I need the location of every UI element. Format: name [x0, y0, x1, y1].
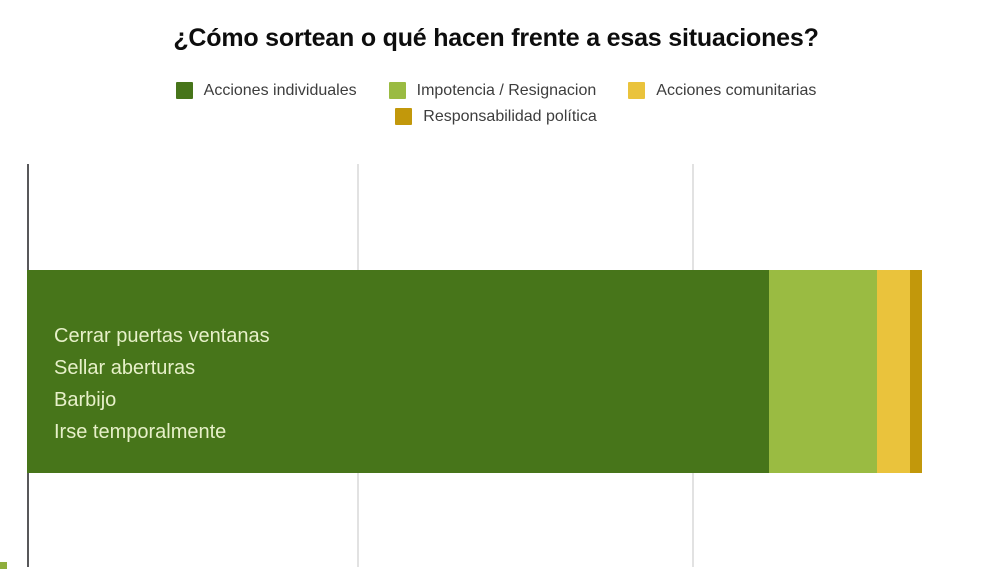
chart-container: ¿Cómo sortean o qué hacen frente a esas … [0, 0, 992, 569]
stacked-bar [27, 270, 922, 473]
corner-marker [0, 562, 7, 569]
bar-segment-acciones-individuales[interactable] [27, 270, 769, 473]
bar-segment-acciones-comunitarias[interactable] [877, 270, 910, 473]
bar-segment-impotencia-resignacion[interactable] [769, 270, 877, 473]
bar-segment-responsabilidad-politica[interactable] [910, 270, 922, 473]
plot-area: Cerrar puertas ventanas Sellar aberturas… [0, 0, 992, 569]
